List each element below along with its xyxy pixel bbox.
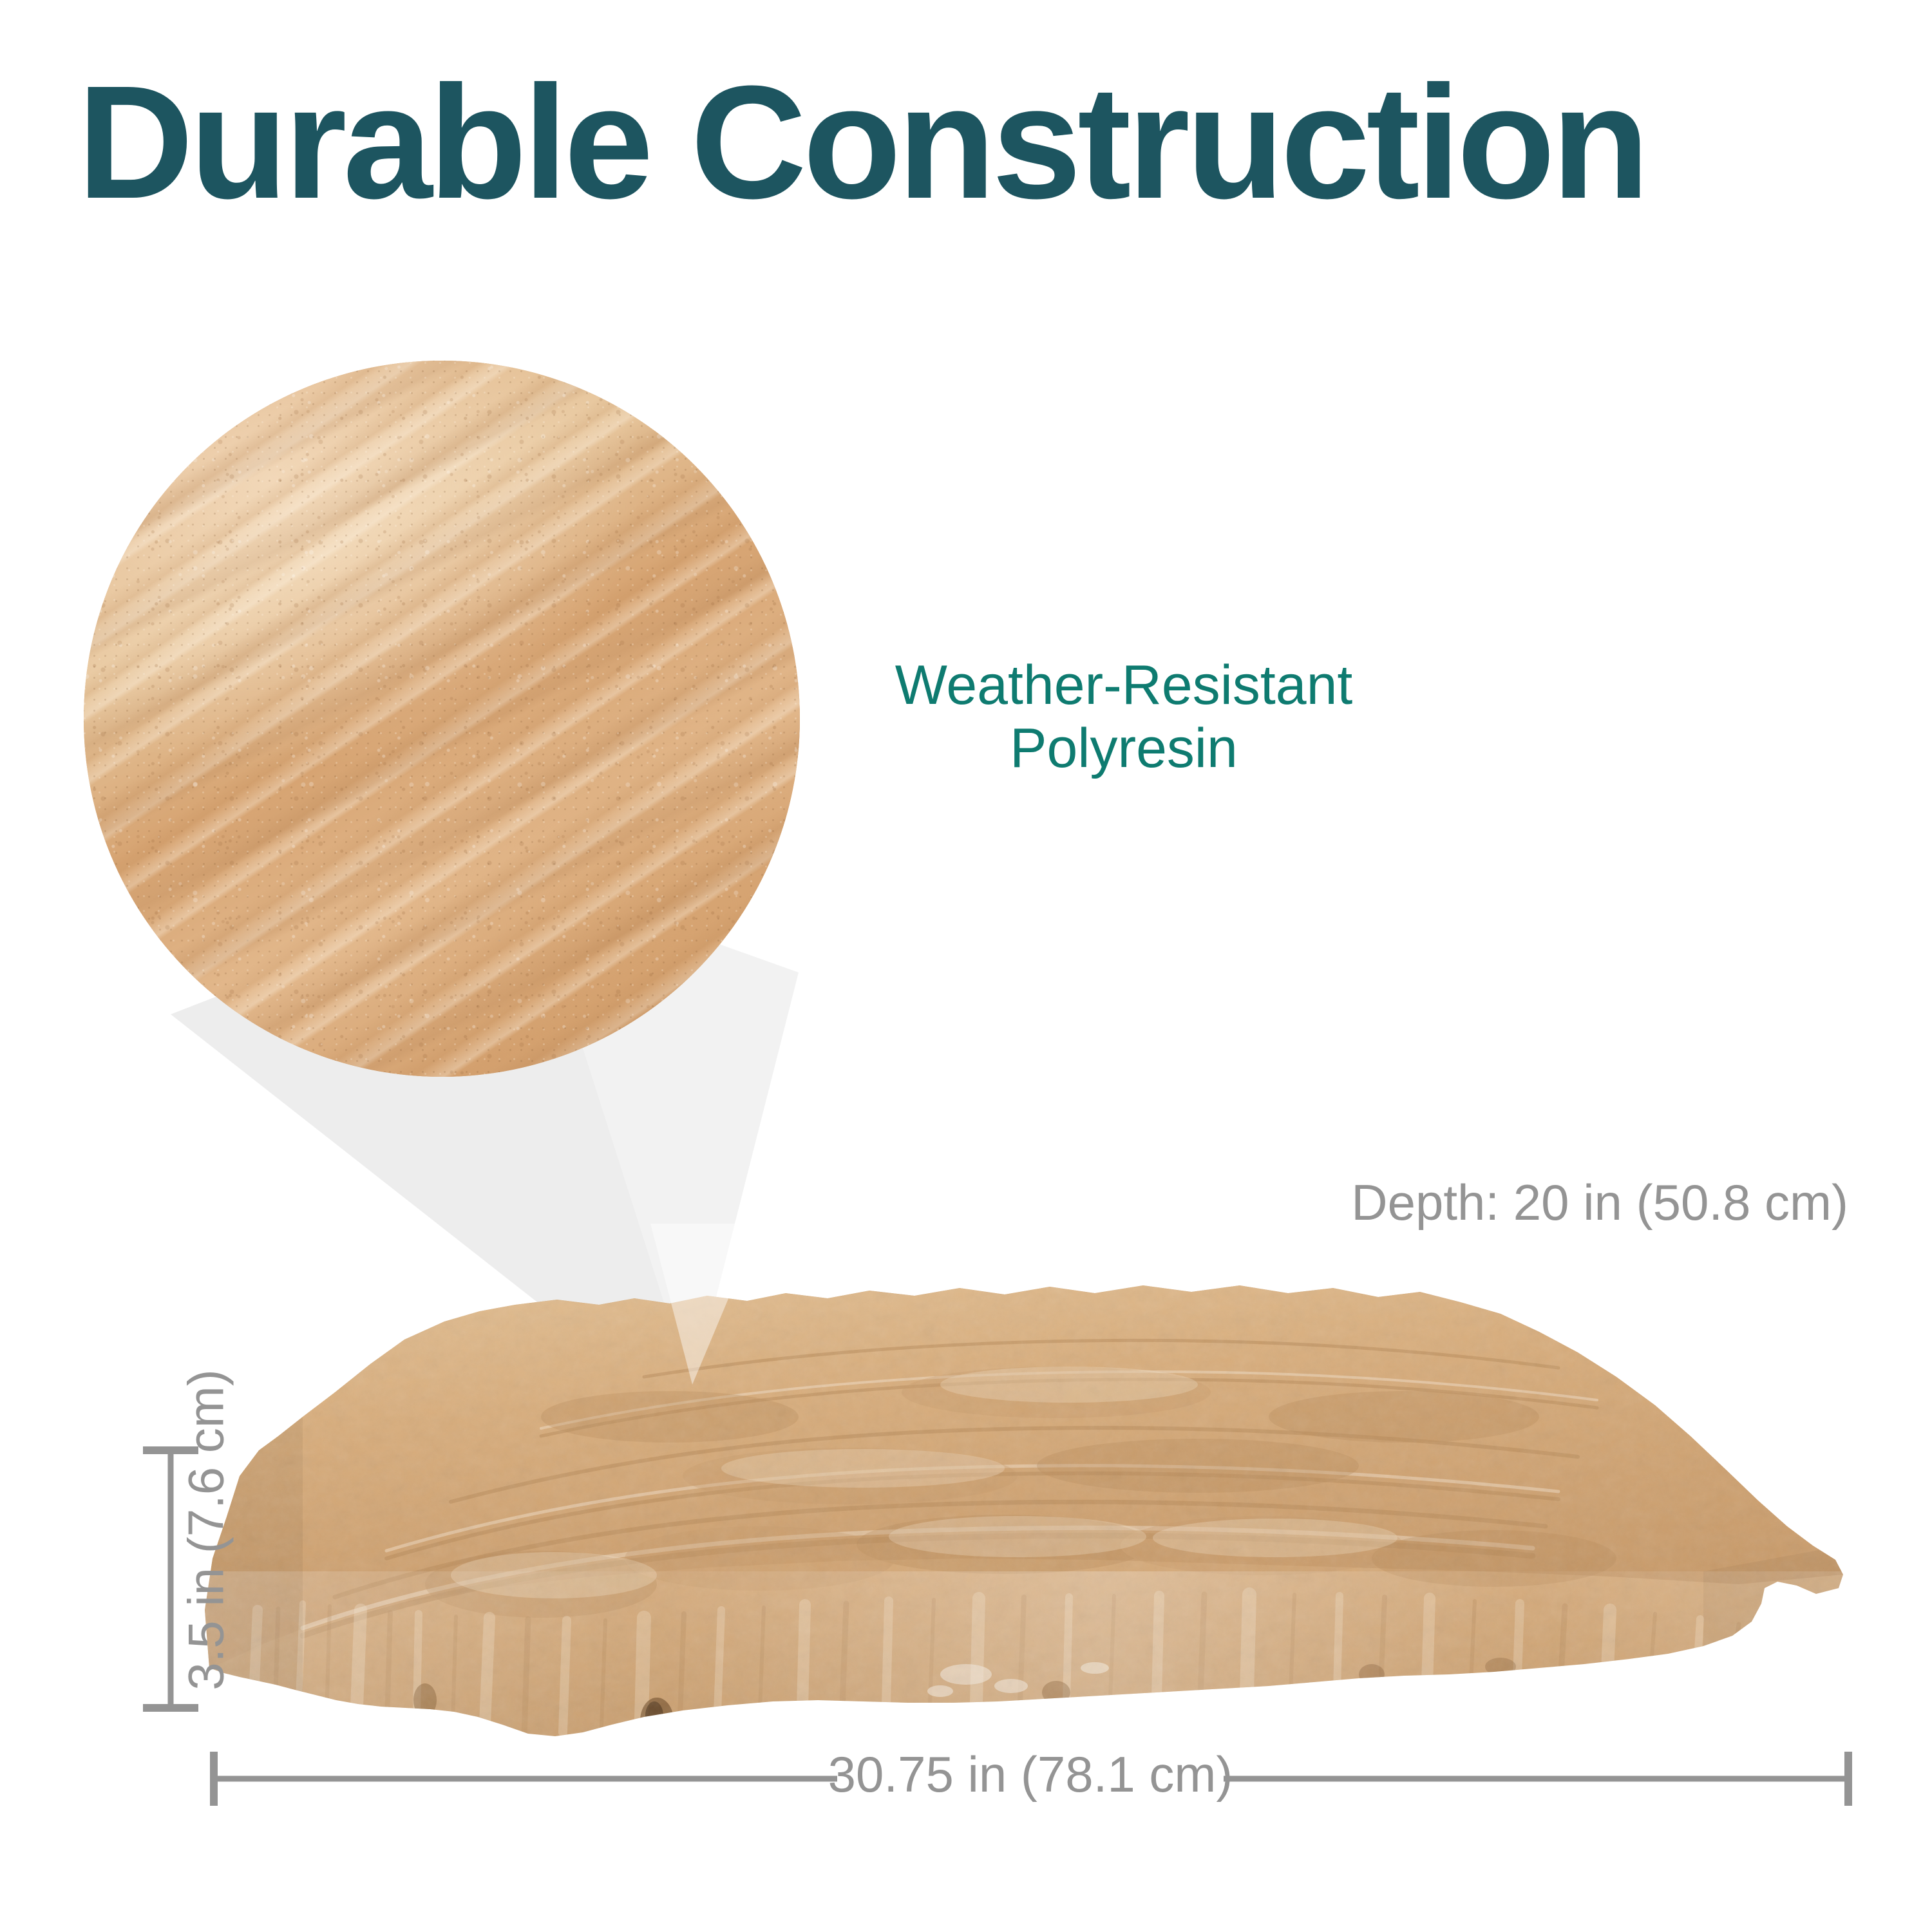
rock-body (193, 1275, 1855, 1765)
page-title: Durable Construction (77, 58, 1874, 227)
product-rock-cover (0, 1224, 1932, 1777)
height-dimension-label: 3.5 in (7.6 cm) (177, 1363, 236, 1698)
texture-vignette (84, 361, 800, 1077)
magnifier-circle (84, 361, 800, 1077)
material-callout-line-1: Weather-Resistant (789, 654, 1459, 717)
width-dimension-label: 30.75 in (78.1 cm) (180, 1745, 1880, 1804)
width-dimension: 30.75 in (78.1 cm) (180, 1739, 1880, 1855)
material-callout-line-2: Polyresin (789, 717, 1459, 780)
material-callout-label: Weather-Resistant Polyresin (789, 654, 1459, 780)
height-dimension: 3.5 in (7.6 cm) (129, 1417, 258, 1739)
infographic-canvas: Durable Construction Weather-Resistant P… (0, 0, 1932, 1932)
